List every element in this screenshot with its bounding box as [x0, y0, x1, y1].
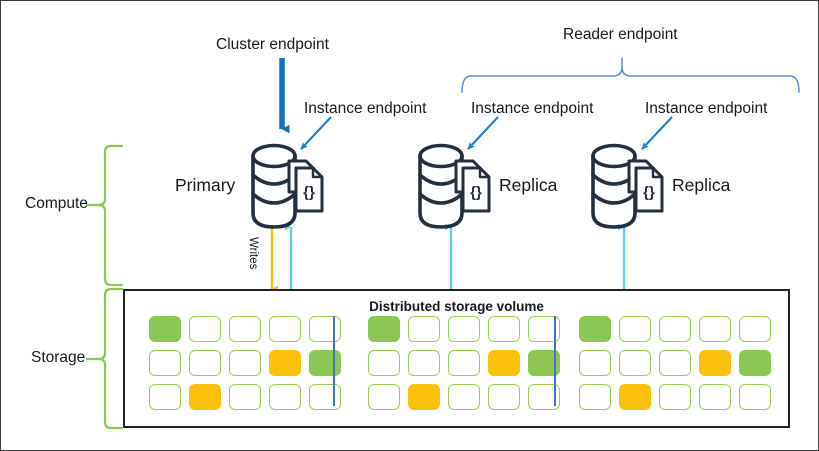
cluster-endpoint-label: Cluster endpoint: [216, 36, 329, 53]
svg-text:{}: {}: [470, 184, 482, 201]
storage-cell: [739, 350, 771, 376]
compute-layer-bracket: [87, 146, 122, 285]
storage-cell: [659, 350, 691, 376]
storage-cell: [579, 350, 611, 376]
storage-cell: [269, 316, 301, 342]
reader-endpoint-label: Reader endpoint: [563, 26, 678, 43]
node-label-replica-1: Replica: [499, 176, 557, 195]
storage-cell: [309, 350, 341, 376]
storage-cell: [579, 384, 611, 410]
storage-cell: [699, 350, 731, 376]
compute-layer-label: Compute: [25, 195, 88, 212]
storage-cell: [408, 350, 440, 376]
writes-label: Writes: [246, 237, 259, 269]
az-storage-grid-1: [149, 316, 341, 410]
instance-endpoint-arrow-replica-2: [642, 117, 672, 149]
storage-cell: [149, 384, 181, 410]
storage-cell: [189, 316, 221, 342]
storage-cell: [408, 384, 440, 410]
instance-endpoint-label-primary: Instance endpoint: [304, 100, 426, 117]
storage-cell: [269, 350, 301, 376]
storage-cell: [189, 384, 221, 410]
storage-cell: [699, 384, 731, 410]
storage-cell: [739, 316, 771, 342]
storage-cell: [659, 316, 691, 342]
storage-cell: [448, 384, 480, 410]
storage-cell: [488, 350, 520, 376]
storage-cell: [229, 350, 261, 376]
az-divider-2: [554, 316, 556, 406]
storage-cell: [619, 316, 651, 342]
storage-cell: [189, 350, 221, 376]
diagram-canvas: {} {} {} Compute Stora: [0, 0, 819, 451]
storage-cell: [488, 316, 520, 342]
instance-endpoint-arrow-primary: [301, 117, 331, 149]
instance-endpoint-label-replica-2: Instance endpoint: [645, 100, 767, 117]
node-label-replica-2: Replica: [672, 176, 730, 195]
storage-cell: [368, 316, 400, 342]
svg-text:{}: {}: [303, 184, 315, 201]
storage-cell: [699, 316, 731, 342]
storage-cell: [229, 384, 261, 410]
storage-cell: [149, 316, 181, 342]
storage-cell: [149, 350, 181, 376]
svg-text:{}: {}: [643, 184, 655, 201]
node-label-primary: Primary: [175, 176, 235, 195]
storage-layer-label: Storage: [31, 349, 85, 366]
reader-endpoint-bracket: [462, 58, 799, 92]
storage-cell: [309, 316, 341, 342]
az-storage-grid-3: [579, 316, 771, 410]
storage-cell: [579, 316, 611, 342]
storage-cell: [448, 350, 480, 376]
instance-endpoint-label-replica-1: Instance endpoint: [471, 100, 593, 117]
storage-cell: [368, 350, 400, 376]
instance-endpoint-arrow-replica-1: [468, 117, 498, 149]
storage-cell: [619, 350, 651, 376]
storage-cell: [659, 384, 691, 410]
storage-cell: [368, 384, 400, 410]
storage-cell: [269, 384, 301, 410]
storage-cell: [488, 384, 520, 410]
storage-cell: [739, 384, 771, 410]
storage-cell: [309, 384, 341, 410]
storage-layer-bracket: [87, 289, 122, 428]
storage-cell: [229, 316, 261, 342]
az-storage-grid-2: [368, 316, 560, 410]
storage-cell: [408, 316, 440, 342]
storage-cell: [619, 384, 651, 410]
az-divider-1: [333, 316, 335, 406]
storage-cell: [448, 316, 480, 342]
distributed-storage-volume-title: Distributed storage volume: [125, 300, 788, 315]
